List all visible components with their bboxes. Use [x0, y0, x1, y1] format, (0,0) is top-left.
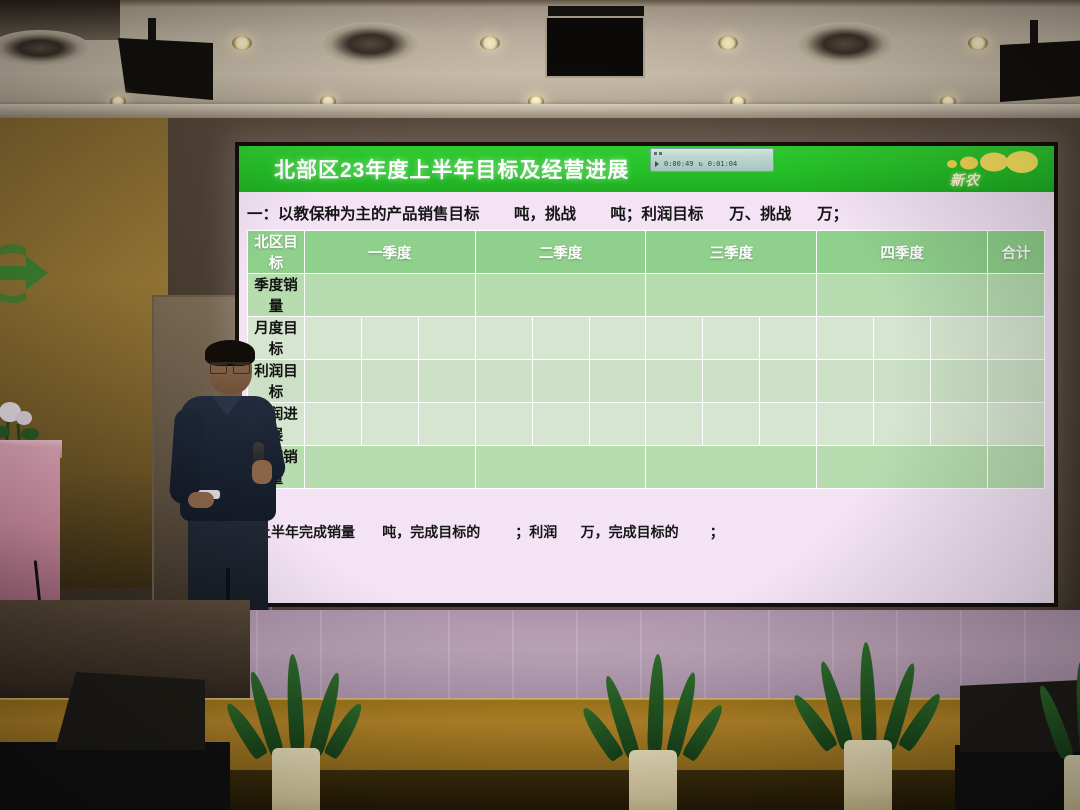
cell [475, 360, 532, 403]
projector-mount [548, 6, 644, 16]
speaker-stand-left [0, 742, 230, 810]
presenter-hand-left [188, 492, 214, 508]
cell [418, 403, 475, 446]
current-time: 0:00:49 [664, 160, 694, 168]
cell [817, 403, 874, 446]
body-line-1: ：上半年完成销量 吨，完成目标的 ；利润 万，完成目标的 ； [243, 518, 1050, 547]
cell [817, 317, 874, 360]
cell [361, 403, 418, 446]
table-header-q1: 一季度 [304, 231, 475, 274]
cell [874, 317, 931, 360]
cell [589, 360, 646, 403]
potted-plant-1 [238, 648, 358, 808]
cell [931, 360, 988, 403]
ceiling-projector-box [545, 16, 645, 78]
cell [703, 360, 760, 403]
potted-plant-4 [1038, 655, 1080, 810]
media-player-titlebar [651, 149, 773, 157]
media-player-overlay[interactable]: 0:00:49 ↻ 0:01:04 [650, 148, 774, 172]
total-time: 0:01:04 [708, 160, 738, 168]
cell [304, 360, 361, 403]
cell [589, 403, 646, 446]
cell [361, 360, 418, 403]
plant-pot [272, 748, 320, 810]
cell [646, 317, 703, 360]
conference-hall-scene: 北部区23年度上半年目标及经营进展 新农 [0, 0, 1080, 810]
table-row: 月度目标 [248, 317, 1045, 360]
row-label: 季度销量 [248, 274, 305, 317]
table-header-q3: 三季度 [646, 231, 817, 274]
company-logo: 新农 [936, 150, 1040, 190]
potted-plant-3 [810, 640, 930, 800]
cell [874, 360, 931, 403]
slide-title: 北部区23年度上半年目标及经营进展 [274, 154, 629, 184]
cell [817, 360, 874, 403]
cell [931, 403, 988, 446]
cell [646, 360, 703, 403]
speaker-bracket-2 [1030, 20, 1038, 46]
table-header-q4: 四季度 [817, 231, 988, 274]
cell [760, 317, 817, 360]
floor-monitor-left [55, 672, 205, 750]
downlight-1 [232, 36, 252, 50]
presenter-hand-right [252, 460, 272, 484]
cell [760, 403, 817, 446]
cell [475, 274, 646, 317]
cell [532, 360, 589, 403]
table-row: 利润目标 [248, 360, 1045, 403]
media-dot-1 [654, 152, 657, 155]
projection-screen: 北部区23年度上半年目标及经营进展 新农 [239, 146, 1054, 603]
cell [760, 360, 817, 403]
table-row: 利润进展 [248, 403, 1045, 446]
cell-total [987, 403, 1044, 446]
hanging-speaker-2 [1000, 40, 1080, 102]
loop-icon[interactable]: ↻ [699, 160, 703, 168]
plant-pot [629, 750, 677, 810]
ceiling-ring-light-3 [795, 22, 895, 66]
media-dot-2 [659, 152, 662, 155]
media-player-controls[interactable]: 0:00:49 ↻ 0:01:04 [651, 157, 773, 171]
cell [304, 403, 361, 446]
cell [874, 403, 931, 446]
table-header-q2: 二季度 [475, 231, 646, 274]
slide-line-one: 一：以教保种为主的产品销售目标 吨，挑战 吨；利润目标 万、挑战 万； [247, 202, 1046, 224]
logo-text: 新农 [950, 170, 980, 190]
cell [646, 274, 817, 317]
glasses-icon [210, 362, 250, 370]
cell-total [987, 317, 1044, 360]
downlight-2 [480, 36, 500, 50]
cell [418, 360, 475, 403]
cell [589, 317, 646, 360]
cell [304, 274, 475, 317]
cell [418, 317, 475, 360]
table-row: 季度销量 [248, 274, 1045, 317]
plant-pot [844, 740, 892, 810]
cell [646, 403, 703, 446]
cell [304, 317, 361, 360]
plant-pot [1064, 755, 1080, 810]
ceiling-ring-light-2 [320, 22, 420, 66]
table-header-row-label: 北区目标 [248, 231, 305, 274]
green-arrow-wall-logo [0, 240, 56, 310]
table-header-total: 合计 [987, 231, 1044, 274]
hanging-speaker-1 [118, 38, 213, 100]
cell [361, 317, 418, 360]
cell [532, 317, 589, 360]
cell [532, 403, 589, 446]
cell [817, 274, 988, 317]
cell [475, 403, 532, 446]
cell [931, 317, 988, 360]
cell [703, 317, 760, 360]
quarterly-targets-table: 北区目标 一季度 二季度 三季度 四季度 合计 季度销量 月度目标 [247, 230, 1045, 489]
play-icon[interactable] [655, 161, 659, 167]
slide-body-text: ：上半年完成销量 吨，完成目标的 ；利润 万，完成目标的 ； ：组织架构上维持原… [243, 460, 1050, 603]
cell-total [987, 274, 1044, 317]
cell [475, 317, 532, 360]
downlight-4 [968, 36, 988, 50]
table-header-row: 北区目标 一季度 二季度 三季度 四季度 合计 [248, 231, 1045, 274]
slide-header-bar: 北部区23年度上半年目标及经营进展 新农 [239, 146, 1054, 192]
presentation-slide: 北部区23年度上半年目标及经营进展 新农 [239, 146, 1054, 603]
cell-total [987, 360, 1044, 403]
potted-plant-2 [595, 650, 715, 810]
cell [703, 403, 760, 446]
downlight-3 [718, 36, 738, 50]
